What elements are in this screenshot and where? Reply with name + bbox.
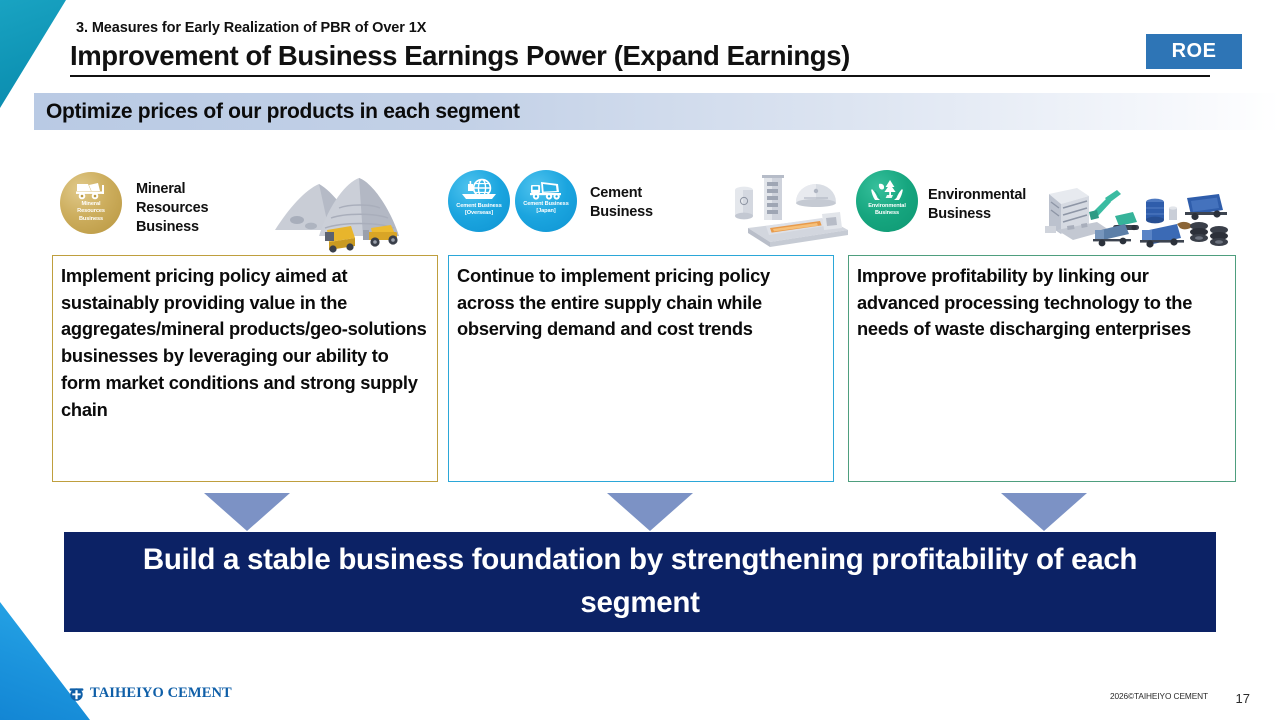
conclusion-banner: Build a stable business foundation by st… xyxy=(64,532,1216,632)
segment-body-text-cement: Continue to implement pricing policy acr… xyxy=(457,263,825,343)
down-arrow-icon-cement xyxy=(607,493,693,531)
segment-body-text-environmental: Improve profitability by linking our adv… xyxy=(857,263,1227,343)
segment-label-line-2: Business xyxy=(590,203,653,222)
cement-overseas-badge-caption-line-1: Cement Business xyxy=(454,203,503,209)
segment-label-cement: Cement Business xyxy=(590,184,653,222)
conclusion-banner-text: Build a stable business foundation by st… xyxy=(64,539,1216,625)
environmental-badge: Environmental Business xyxy=(856,170,918,232)
segment-body-text-mineral-resources: Implement pricing policy aimed at sustai… xyxy=(61,263,429,423)
page-title: Improvement of Business Earnings Power (… xyxy=(70,40,1210,72)
down-arrow-icon-environmental xyxy=(1001,493,1087,531)
section-kicker: 3. Measures for Early Realization of PBR… xyxy=(76,20,426,36)
company-logo: TAIHEIYO CEMENT xyxy=(68,685,232,702)
subtitle-band: Optimize prices of our products in each … xyxy=(34,93,1280,130)
cement-japan-badge: Cement Business [Japan] xyxy=(515,170,577,232)
cement-japan-badge-caption-line-1: Cement Business xyxy=(521,201,570,207)
page-number: 17 xyxy=(1236,691,1250,706)
segment-label-line-1: Environmental xyxy=(928,186,1026,205)
segment-label-mineral-resources: Mineral Resources Business xyxy=(136,180,208,237)
environmental-badge-caption-line-1: Environmental xyxy=(866,203,908,209)
segment-label-environmental: Environmental Business xyxy=(928,186,1026,224)
segment-label-line-1: Cement xyxy=(590,184,653,203)
cement-plant-illustration xyxy=(726,168,856,254)
company-logo-text: TAIHEIYO CEMENT xyxy=(90,685,232,702)
segment-body-box-cement: Continue to implement pricing policy acr… xyxy=(448,255,834,482)
aggregate-stockpiles-illustration xyxy=(267,168,437,254)
hands-tree-recycle-icon xyxy=(869,178,905,202)
segment-label-line-2: Business xyxy=(928,205,1026,224)
cement-overseas-badge-caption-line-2: [Overseas] xyxy=(463,210,495,216)
segment-header-mineral-resources: Mineral Resources Business Mineral Resou… xyxy=(52,160,438,255)
segment-label-line-3: Business xyxy=(136,218,208,237)
mineral-resources-badge-caption-line-1: Mineral xyxy=(80,201,103,207)
subtitle-band-text: Optimize prices of our products in each … xyxy=(34,100,520,124)
segment-label-line-1: Mineral xyxy=(136,180,208,199)
globe-ship-icon xyxy=(461,178,497,202)
mixer-truck-icon xyxy=(528,178,564,200)
copyright-notice: 2026©TAIHEIYO CEMENT xyxy=(1110,691,1208,701)
environmental-badge-caption-line-2: Business xyxy=(873,210,901,216)
dump-truck-icon xyxy=(74,180,108,200)
down-arrow-icon-mineral-resources xyxy=(204,493,290,531)
page-title-underline: Improvement of Business Earnings Power (… xyxy=(70,40,1210,77)
cement-overseas-badge: Cement Business [Overseas] xyxy=(448,170,510,232)
slide-root: 3. Measures for Early Realization of PBR… xyxy=(0,0,1280,720)
segment-label-line-2: Resources xyxy=(136,199,208,218)
taiheiyo-logo-mark-icon xyxy=(68,685,85,702)
roe-badge: ROE xyxy=(1146,34,1242,69)
segment-body-box-mineral-resources: Implement pricing policy aimed at sustai… xyxy=(52,255,438,482)
mineral-resources-badge-caption-line-2: Resources xyxy=(75,208,107,214)
cement-japan-badge-caption-line-2: [Japan] xyxy=(534,208,557,214)
mineral-resources-badge: Mineral Resources Business xyxy=(60,172,122,234)
segment-header-cement: Cement Business [Overseas] xyxy=(448,160,834,255)
segment-body-box-environmental: Improve profitability by linking our adv… xyxy=(848,255,1236,482)
segment-header-environmental: Environmental Business Environmental Bus… xyxy=(848,160,1236,255)
mineral-resources-badge-caption-line-3: Business xyxy=(77,216,105,222)
corner-decoration-top-left xyxy=(0,0,76,108)
waste-recycling-illustration xyxy=(1043,168,1233,254)
